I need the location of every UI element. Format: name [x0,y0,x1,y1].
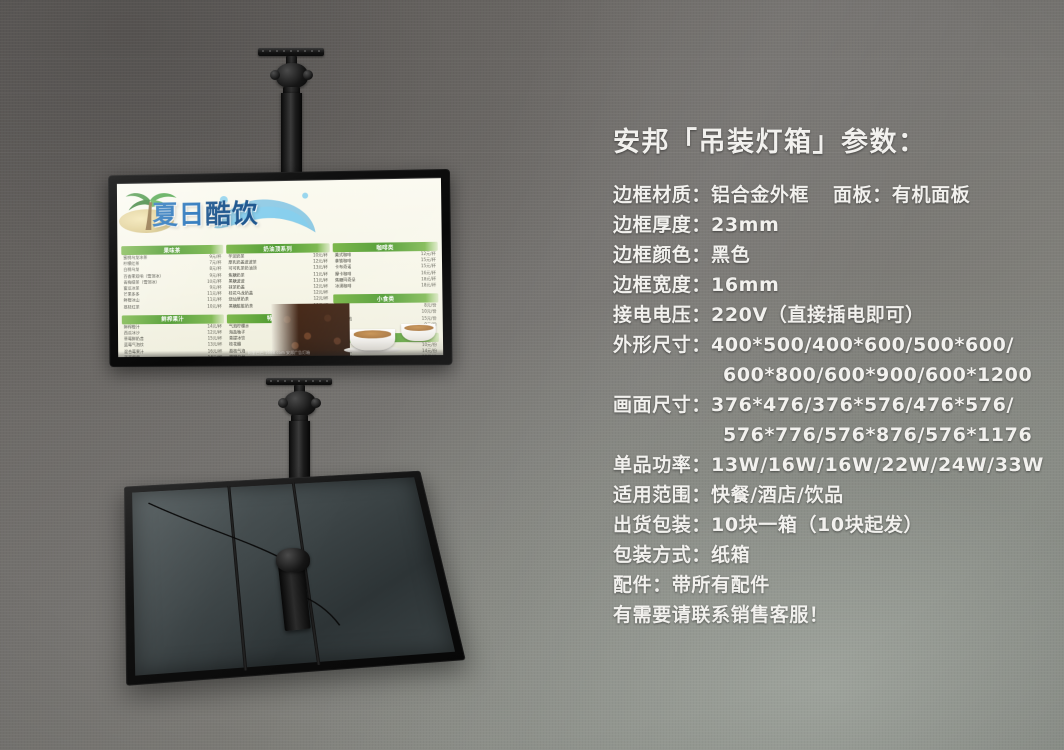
ceiling-mount-upper [246,48,354,178]
spec-line: 边框颜色：黑色 [613,240,1043,270]
menu-section-header: 果味茶 [121,245,223,255]
spec-value: 10块一箱（10块起发） [711,514,923,536]
spec-line: 配件：带所有配件 [613,570,1043,600]
menu-section: 奶油顶系列芋泥奶茶10元/杯厚乳奶盖波波茶12元/杯可可乳茶奶油顶13元/杯焦糖… [226,243,330,309]
spec-line: 包装方式：纸箱 [613,540,1043,570]
menu-item-price: 18元/杯 [417,282,436,288]
spec-value: 黑色 [711,244,750,266]
menu-item-name: 黑糖脏脏奶茶 [229,303,253,309]
spec-label: 边框颜色： [613,244,711,266]
spec-line: 画面尺寸：376*476/376*576/476*576/ [613,390,1043,420]
mount-knob-upper-left [270,70,280,80]
menu-item-name: 焦糖玛奇朵 [335,277,356,283]
menu-item-row: 冰滴咖啡18元/杯 [333,282,438,289]
spec-line: 接电电压：220V（直接插电即可） [613,300,1043,330]
spec-label: 外形尺寸： [613,334,711,356]
menu-title-part2: 酷饮 [205,199,259,230]
mount-knob-lower-right [311,398,321,408]
menu-watermark: 阿里巴巴 1688.com 安邦广告灯箱 [248,349,310,355]
rear-bracket-knuckle [276,548,310,572]
spec-line: 单品功率：13W/16W/16W/22W/24W/33W [613,450,1043,480]
menu-item-name: 桂花酿 [229,342,241,348]
spec-value: 13W/16W/16W/22W/24W/33W [711,454,1044,476]
spec-value: 23mm [711,214,779,236]
spec-value: 576*776/576*876/576*1176 [723,424,1032,446]
ceiling-plate-upper [258,48,324,56]
menu-section: 咖啡类美式咖啡12元/杯拿铁咖啡15元/杯卡布奇诺15元/杯摩卡咖啡16元/杯焦… [333,242,439,290]
spec-line: 边框厚度：23mm [613,210,1043,240]
menu-item-row: 荔枝红茶10元/杯 [122,303,224,310]
spec-value: 376*476/376*576/476*576/ [711,394,1014,416]
menu-section-header: 奶油顶系列 [226,243,330,253]
spec-line: 576*776/576*876/576*1176 [613,420,1043,450]
spec-label: 边框厚度： [613,214,711,236]
spec-value: 纸箱 [711,544,750,566]
menu-section-title: 奶油顶系列 [263,244,292,252]
spec-label: 边框材质： [613,184,711,206]
menu-title: 夏日酷饮 [152,193,259,231]
menu-item-price: 10元/杯 [203,303,222,309]
ceiling-lightbox-front: 夏日酷饮 果味茶蜜桃乌龙冰茶9元/杯柠檬红茶7元/杯白桃乌龙8元/杯百香果双响（… [108,169,452,367]
menu-section-title: 果味茶 [164,246,181,254]
mount-pole-upper [281,93,302,178]
spec-line: 出货包装：10块一箱（10块起发） [613,510,1043,540]
menu-section-title: 鲜榨果汁 [161,315,184,323]
menu-coffee-photo [272,302,443,356]
menu-item-name: 青提冰饮 [229,335,245,341]
spec-line: 适用范围：快餐/酒店/饮品 [613,480,1043,510]
spec-label: 包装方式： [613,544,711,566]
mount-knob-lower-left [278,398,288,408]
spec-label: 边框宽度： [613,274,711,296]
menu-section-header: 鲜榨果汁 [122,314,224,324]
spec-value: 带所有配件 [672,574,770,596]
spec-title: 安邦「吊装灯箱」参数： [613,128,1043,158]
spec-label: 配件： [613,574,672,596]
menu-item-name: 冰滴咖啡 [335,283,352,289]
spec-value: 400*500/400*600/500*600/ [711,334,1014,356]
spec-label: 出货包装： [613,514,711,536]
spec-value: 16mm [711,274,779,296]
spec-line: 有需要请联系销售客服！ [613,600,1043,630]
spec-line: 边框宽度：16mm [613,270,1043,300]
menu-title-part1: 夏日 [152,200,205,231]
spec-line-list: 边框材质：铝合金外框面板：有机面板边框厚度：23mm边框颜色：黑色边框宽度：16… [613,180,1043,630]
ceiling-plate-lower [266,378,332,385]
spec-label: 接电电压： [613,304,711,326]
spec-value-extra: 有机面板 [892,184,970,206]
spec-label: 画面尺寸： [613,394,711,416]
menu-item-name: 青梅绿茶（雪顶冰） [123,279,159,285]
menu-artwork: 夏日酷饮 果味茶蜜桃乌龙冰茶9元/杯柠檬红茶7元/杯白桃乌龙8元/杯百香果双响（… [117,178,443,357]
product-photo-scene: 夏日酷饮 果味茶蜜桃乌龙冰茶9元/杯柠檬红茶7元/杯白桃乌龙8元/杯百香果双响（… [0,0,1064,750]
menu-section-header: 咖啡类 [333,242,438,252]
spec-value: 快餐/酒店/饮品 [711,484,844,506]
mount-knob-upper-right [303,70,313,80]
spec-line: 600*800/600*900/600*1200 [613,360,1043,390]
menu-section: 果味茶蜜桃乌龙冰茶9元/杯柠檬红茶7元/杯白桃乌龙8元/杯百香果双响（雪顶冰）9… [121,245,224,310]
spec-value: 铝合金外框 [711,184,809,206]
spec-line: 边框材质：铝合金外框面板：有机面板 [613,180,1043,210]
spec-line: 外形尺寸：400*500/400*600/500*600/ [613,330,1043,360]
specification-text-block: 安邦「吊装灯箱」参数： 边框材质：铝合金外框面板：有机面板边框厚度：23mm边框… [613,128,1043,630]
spec-value: 有需要请联系销售客服！ [613,604,829,626]
spec-value: 220V（直接插电即可） [711,304,925,326]
spec-value: 600*800/600*900/600*1200 [723,364,1032,386]
menu-column-left: 果味茶蜜桃乌龙冰茶9元/杯柠檬红茶7元/杯白桃乌龙8元/杯百香果双响（雪顶冰）9… [121,245,224,357]
menu-item-name: 荔枝红茶 [124,304,140,310]
menu-item-name: 海盐柚子 [229,329,245,335]
spec-label-extra: 面板： [833,184,892,206]
spec-label: 单品功率： [613,454,711,476]
photo-blend-overlay [272,302,443,356]
lightbox-menu-panel: 夏日酷饮 果味茶蜜桃乌龙冰茶9元/杯柠檬红茶7元/杯白桃乌龙8元/杯百香果双响（… [117,178,443,357]
spec-label: 适用范围： [613,484,711,506]
menu-section-title: 咖啡类 [376,243,394,251]
menu-item-name: 气泡柠檬水 [229,323,249,329]
